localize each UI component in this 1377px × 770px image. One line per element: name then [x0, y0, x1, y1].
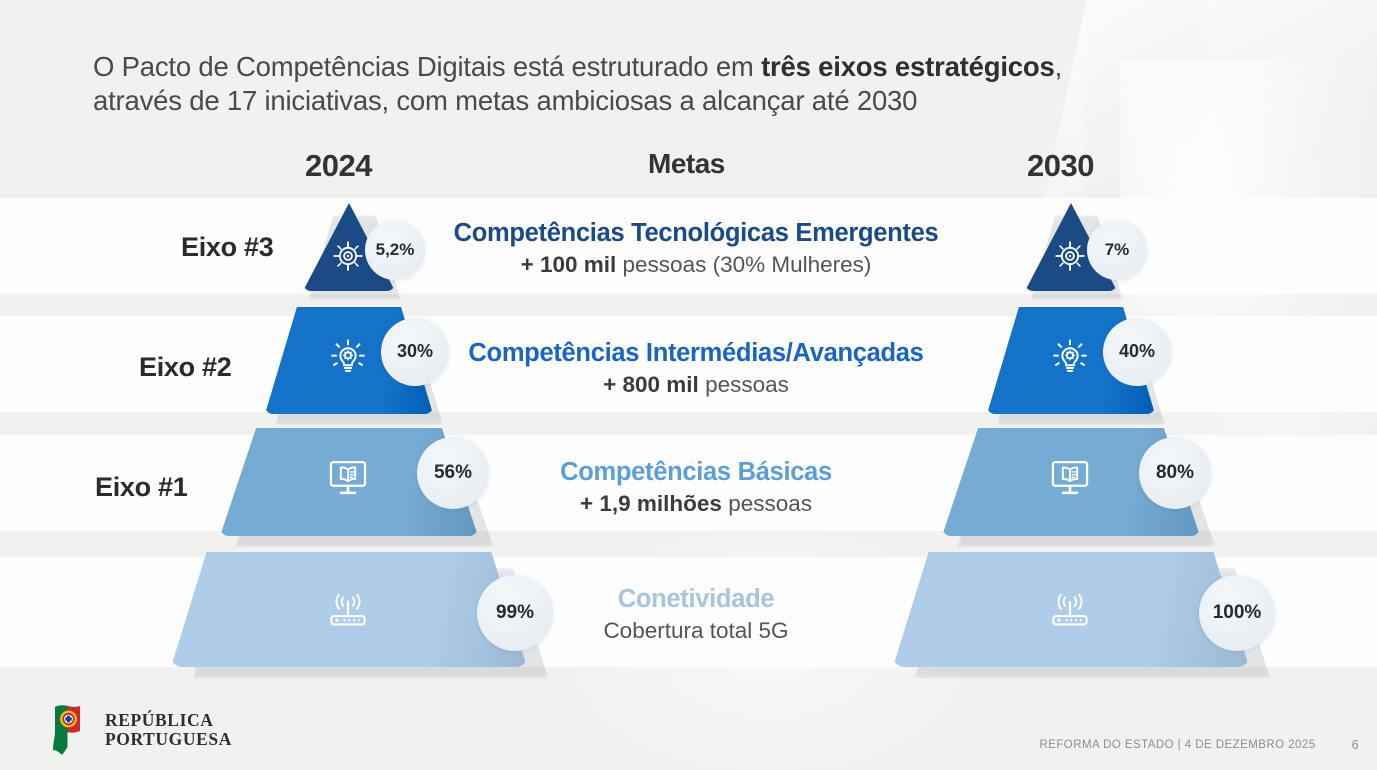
axis-label-eixo3: Eixo #3 — [181, 232, 273, 263]
value-badge-conetividade-2030[interactable]: 100% — [1199, 575, 1275, 651]
meta-title-intermedias: Competências Intermédias/Avançadas — [376, 338, 1016, 369]
monitor-book-icon — [327, 456, 369, 498]
meta-goal-bold-basicas: + 1,9 milhões — [580, 491, 722, 516]
meta-goal-rest-basicas: pessoas — [722, 491, 812, 516]
meta-goal-rest-emergentes: pessoas (30% Mulheres) — [616, 252, 871, 277]
meta-intermedias: Competências Intermédias/Avançadas + 800… — [376, 338, 1016, 399]
headline-line2: através de 17 iniciativas, com metas amb… — [93, 85, 917, 116]
meta-goal-rest-conetividade: Cobertura total 5G — [603, 618, 788, 643]
router-wifi-icon — [327, 589, 369, 631]
headline-emphasis: três eixos estratégicos — [761, 51, 1054, 82]
target-icon — [1053, 239, 1087, 273]
footer-event-label: REFORMA DO ESTADO | 4 DE DEZEMBRO 2025 — [1039, 739, 1315, 751]
value-badge-conetividade-2024[interactable]: 99% — [477, 575, 553, 651]
footer-meta: REFORMA DO ESTADO | 4 DE DEZEMBRO 2025 6 — [1039, 738, 1359, 752]
page-number: 6 — [1352, 738, 1359, 752]
meta-title-emergentes: Competências Tecnológicas Emergentes — [376, 218, 1016, 249]
headline-line1-pre: O Pacto de Competências Digitais está es… — [93, 51, 761, 82]
logo-line-1: REPÚBLICA — [105, 711, 232, 731]
page-title: O Pacto de Competências Digitais está es… — [93, 50, 1213, 118]
value-badge-emergentes-2030[interactable]: 7% — [1087, 220, 1147, 280]
headline-line1-post: , — [1055, 51, 1062, 82]
meta-goal-rest-intermedias: pessoas — [699, 372, 789, 397]
monitor-book-icon — [1049, 456, 1091, 498]
meta-goal-intermedias: + 800 mil pessoas — [376, 370, 1016, 399]
logo-line-2: PORTUGUESA — [105, 730, 232, 750]
lightbulb-gear-icon — [1050, 337, 1090, 377]
target-icon — [331, 239, 365, 273]
column-header-metas: Metas — [648, 148, 725, 180]
meta-goal-bold-intermedias: + 800 mil — [603, 372, 699, 397]
value-badge-emergentes-2024[interactable]: 5,2% — [365, 220, 425, 280]
value-badge-intermedias-2024[interactable]: 30% — [381, 318, 449, 386]
lightbulb-gear-icon — [328, 337, 368, 377]
router-wifi-icon — [1049, 589, 1091, 631]
column-header-2030: 2030 — [1027, 148, 1094, 184]
meta-goal-emergentes: + 100 mil pessoas (30% Mulheres) — [376, 250, 1016, 279]
axis-label-eixo1: Eixo #1 — [95, 472, 187, 503]
column-header-2024: 2024 — [305, 148, 372, 184]
value-badge-basicas-2030[interactable]: 80% — [1139, 437, 1211, 509]
meta-emergentes: Competências Tecnológicas Emergentes + 1… — [376, 218, 1016, 279]
value-badge-intermedias-2030[interactable]: 40% — [1103, 318, 1171, 386]
meta-goal-bold-emergentes: + 100 mil — [521, 252, 617, 277]
republica-portuguesa-logo: REPÚBLICA PORTUGUESA — [48, 703, 232, 757]
value-badge-basicas-2024[interactable]: 56% — [417, 437, 489, 509]
logo-wordmark: REPÚBLICA PORTUGUESA — [105, 711, 232, 750]
axis-label-eixo2: Eixo #2 — [139, 352, 231, 383]
portugal-shield-icon — [48, 703, 94, 757]
